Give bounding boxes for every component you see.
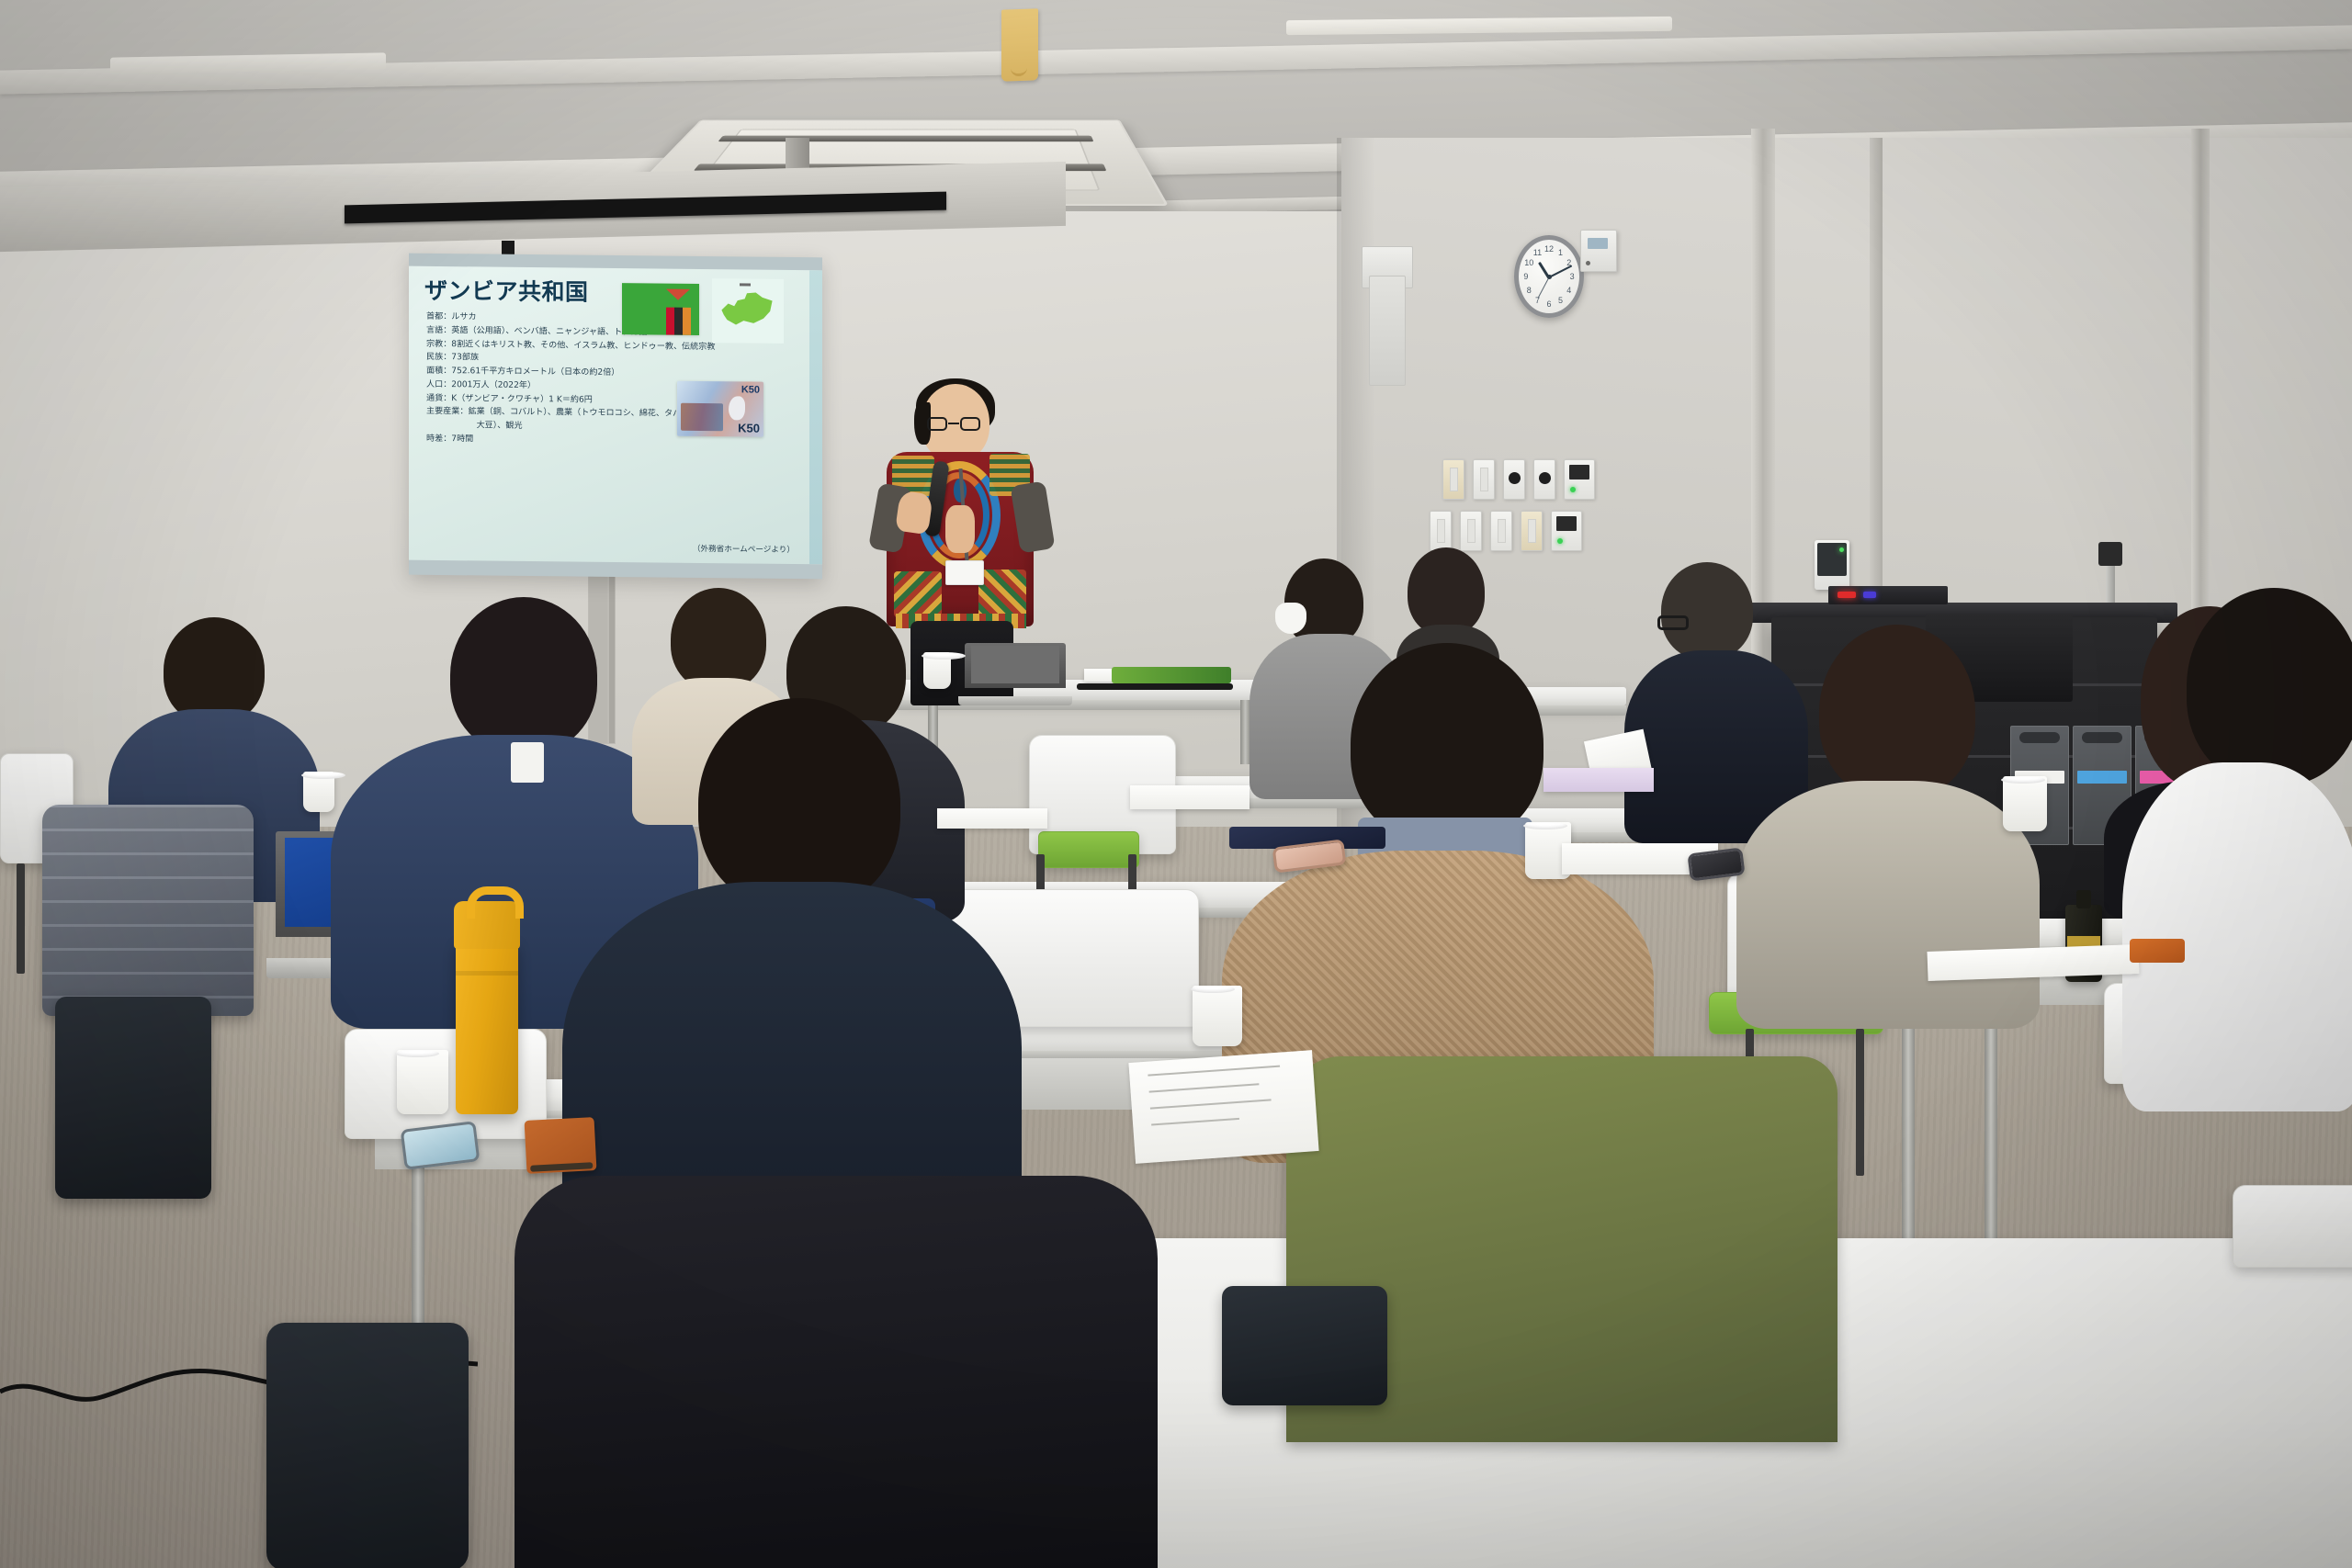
chair-leg (17, 863, 25, 974)
clock-numeral: 8 (1527, 286, 1532, 295)
seminar-room-photo: ザンビア共和国 首都：ルサカ 言語：英語（公用語）、ベンバ語、ニャンジャ語、トン… (0, 0, 2352, 1568)
wall-switch[interactable] (1430, 511, 1452, 551)
status-led-icon (1863, 592, 1876, 598)
black-backpack (55, 997, 211, 1199)
power-led-icon (1837, 592, 1856, 598)
zambia-map-icon (712, 278, 784, 344)
av-device (1828, 586, 1948, 604)
stand-head (2098, 542, 2122, 566)
paper-cup (1193, 986, 1242, 1046)
wall-switch[interactable] (1442, 459, 1464, 500)
name-badge (945, 560, 984, 585)
eyeglasses-icon (927, 417, 980, 432)
clock-numeral: 6 (1546, 299, 1551, 309)
projector-screen-control[interactable] (1564, 459, 1595, 500)
slide-accent-stripe (809, 270, 822, 564)
handout-paper (1130, 785, 1249, 809)
screen-control-display (1556, 516, 1577, 531)
shoulder-tag (511, 742, 544, 783)
wall-access-panel (1369, 276, 1406, 386)
brown-leather-wallet (525, 1117, 597, 1174)
yellow-thermos-bottle (456, 940, 518, 1114)
dashiki-pattern-panel (978, 570, 1026, 617)
status-led-icon (1839, 547, 1844, 552)
zambia-banknote-icon: K50 K50 (677, 381, 763, 437)
attendee-torso (514, 1176, 1158, 1568)
map-country-shape (719, 291, 775, 333)
handout-paper (1128, 1050, 1318, 1164)
attendee-head (1351, 643, 1543, 845)
clock-numeral: 9 (1523, 272, 1528, 281)
clock-second-hand (1537, 276, 1549, 299)
clock-center-pin (1547, 275, 1552, 279)
wireless-access-point-icon (1815, 540, 1849, 590)
ceiling-hanging-tag (1001, 8, 1038, 81)
clock-numeral: 10 (1524, 258, 1533, 267)
bottle-ring (456, 971, 518, 976)
map-caption-bar (740, 283, 751, 286)
presentation-slide: ザンビア共和国 首都：ルサカ 言語：英語（公用語）、ベンバ語、ニャンジャ語、トン… (409, 266, 822, 565)
laptop-lid (965, 643, 1066, 688)
light-switch-panel[interactable] (1430, 511, 1582, 551)
wall-switch-button[interactable] (1503, 459, 1525, 500)
paper-cup (303, 772, 334, 812)
attendee-head (698, 698, 900, 909)
black-bag (1222, 1286, 1387, 1405)
bottle-cap-handle-icon (454, 901, 520, 949)
chair-leg (1856, 1029, 1864, 1176)
switch-round-button-icon[interactable] (1509, 472, 1521, 484)
ac-vent (718, 136, 1094, 142)
clock-numeral: 1 (1558, 248, 1563, 257)
wall-switch-button[interactable] (1533, 459, 1555, 500)
switch-round-button-icon[interactable] (1539, 472, 1551, 484)
black-bag (266, 1323, 469, 1568)
banknote-value-top: K50 (741, 384, 760, 395)
controller-button[interactable] (1586, 261, 1590, 265)
attendee-head (1408, 547, 1485, 636)
clock-numeral: 4 (1566, 286, 1571, 295)
wall-switch[interactable] (1473, 459, 1495, 500)
paper-cup (397, 1050, 448, 1114)
projection-screen: ザンビア共和国 首都：ルサカ 言語：英語（公用語）、ベンバ語、ニャンジャ語、トン… (409, 254, 822, 580)
status-led-icon (1570, 487, 1576, 492)
flag-eagle-icon (666, 289, 690, 300)
attendee-head (164, 617, 265, 724)
clock-numeral: 12 (1544, 244, 1554, 254)
attendee-head (1819, 625, 1975, 799)
face-mask-icon (1275, 603, 1306, 634)
clock-numeral: 3 (1570, 272, 1575, 281)
clock-numeral: 11 (1533, 248, 1542, 257)
green-cable-bundle (1112, 667, 1231, 683)
cable (1077, 683, 1233, 690)
screen-bracket (502, 241, 514, 255)
stacking-chair-seat[interactable] (1038, 831, 1139, 868)
presenter-hand (895, 491, 933, 536)
banknote-bird-icon (729, 396, 745, 420)
controller-display (1588, 238, 1608, 249)
light-switch-panel[interactable] (1442, 459, 1595, 500)
attendee-black-puffer-front (514, 1139, 1158, 1568)
wall-switch[interactable] (1460, 511, 1482, 551)
attendee-torso (2122, 762, 2352, 1111)
clock-numeral: 5 (1558, 296, 1563, 305)
flag-stripe-orange (683, 308, 691, 335)
ceiling-light-fixture (1286, 17, 1672, 35)
wall-clock: 12 1 2 3 4 5 6 7 8 9 10 11 (1514, 235, 1584, 318)
flag-stripe-red (666, 308, 674, 335)
flag-stripe-black (674, 308, 683, 335)
orange-pouch (2130, 939, 2185, 963)
projector-screen-control[interactable] (1551, 511, 1582, 551)
paper-cup (2003, 776, 2047, 831)
zambia-flag-icon (622, 283, 699, 335)
gray-puffer-coat-on-chair (42, 805, 254, 1016)
air-conditioner-controller[interactable] (1580, 230, 1617, 272)
attendee-torso (1736, 781, 2040, 1029)
laptop-screen (971, 646, 1060, 683)
attendee-head (2187, 588, 2352, 785)
status-led-icon (1557, 538, 1563, 544)
wall-switch[interactable] (1521, 511, 1543, 551)
presenter-laptop[interactable] (965, 643, 1066, 705)
presenter-hand (945, 505, 975, 553)
slide-source-note: （外務省ホームページより） (693, 543, 795, 555)
stacking-chair[interactable] (2233, 1185, 2352, 1268)
screen-control-display (1569, 465, 1589, 479)
handout-paper (937, 808, 1047, 829)
wall-switch[interactable] (1490, 511, 1512, 551)
attendee-white-shirt-right (2122, 588, 2352, 1102)
eyeglasses-icon (1657, 615, 1689, 630)
banknote-value-bottom: K50 (738, 421, 760, 434)
